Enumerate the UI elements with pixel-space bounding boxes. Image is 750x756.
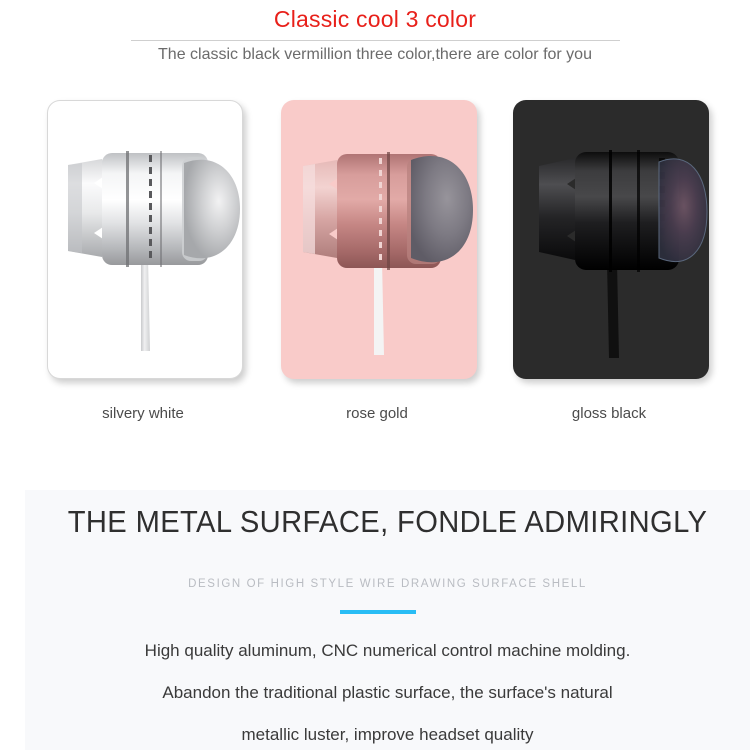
earphone-image-silvery-white — [48, 101, 243, 379]
color-card-list — [0, 100, 750, 380]
title-divider — [131, 40, 620, 41]
feature-heading: THE METAL SURFACE, FONDLE ADMIRINGLY — [47, 504, 729, 540]
color-card-rose-gold[interactable] — [281, 100, 477, 379]
paragraph-line: High quality aluminum, CNC numerical con… — [25, 630, 750, 672]
accent-divider — [340, 610, 416, 614]
paragraph-line: Abandon the traditional plastic surface,… — [25, 672, 750, 714]
page-title: Classic cool 3 color — [0, 6, 750, 33]
metal-surface-section: THE METAL SURFACE, FONDLE ADMIRINGLY DES… — [25, 490, 750, 750]
color-card-silvery-white[interactable] — [47, 100, 243, 379]
feature-paragraph: High quality aluminum, CNC numerical con… — [25, 630, 750, 756]
feature-subheading: DESIGN OF HIGH STYLE WIRE DRAWING SURFAC… — [25, 578, 750, 590]
color-showcase-section: Classic cool 3 color The classic black v… — [0, 0, 750, 460]
color-label-silvery-white: silvery white — [43, 405, 243, 422]
earphone-image-gloss-black — [513, 100, 709, 379]
color-label-gloss-black: gloss black — [509, 405, 709, 422]
earphone-image-rose-gold — [281, 100, 477, 379]
color-card-gloss-black[interactable] — [513, 100, 709, 379]
page-subtitle: The classic black vermillion three color… — [0, 46, 750, 64]
color-label-rose-gold: rose gold — [277, 405, 477, 422]
